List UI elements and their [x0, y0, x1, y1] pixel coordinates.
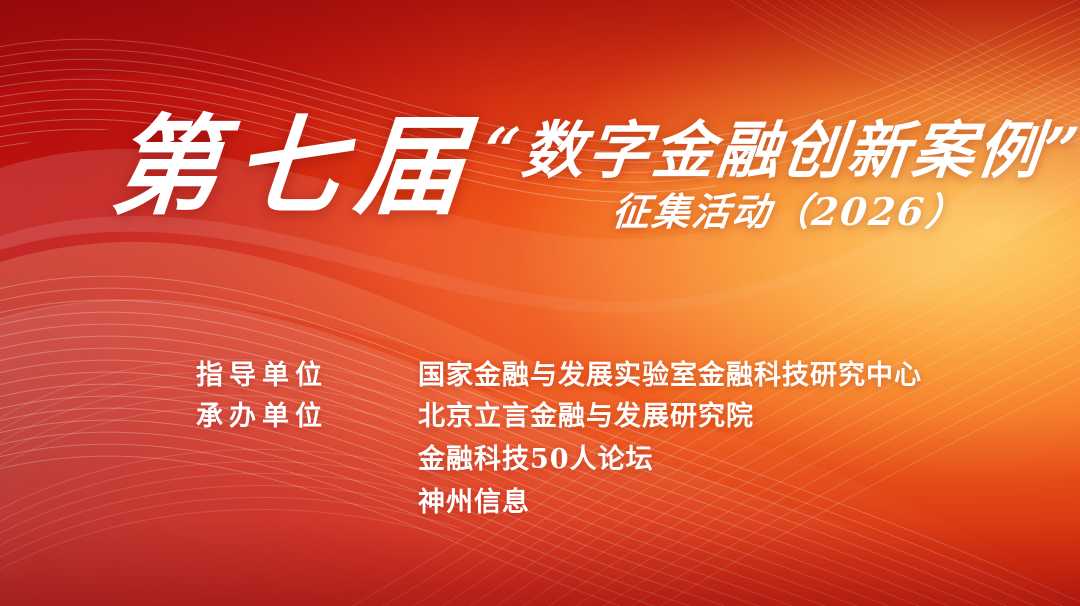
- organization-label-host: 承办单位: [196, 400, 418, 434]
- page-subtitle-activity: 征集活动（2026）: [610, 189, 969, 235]
- poster-content: 第七届 “数字金融创新案例” 征集活动（2026） 指导单位 国家金融与发展实验…: [0, 0, 1080, 606]
- organization-row-guidance: 指导单位 国家金融与发展实验室金融科技研究中心: [196, 359, 922, 393]
- organization-label-guidance: 指导单位: [196, 359, 418, 393]
- organization-value: 神州信息: [418, 486, 754, 520]
- organization-values-guidance: 国家金融与发展实验室金融科技研究中心: [418, 359, 922, 393]
- page-title-theme: “数字金融创新案例”: [480, 116, 1080, 185]
- organization-values-host: 北京立言金融与发展研究院 金融科技50人论坛 神州信息: [418, 400, 754, 520]
- organizations-block: 指导单位 国家金融与发展实验室金融科技研究中心 承办单位 北京立言金融与发展研究…: [196, 359, 922, 527]
- organization-row-host: 承办单位 北京立言金融与发展研究院 金融科技50人论坛 神州信息: [196, 400, 922, 520]
- organization-value: 国家金融与发展实验室金融科技研究中心: [418, 359, 922, 393]
- page-title-edition: 第七届: [107, 110, 483, 224]
- organization-value: 北京立言金融与发展研究院: [418, 400, 754, 434]
- poster-canvas: 第七届 “数字金融创新案例” 征集活动（2026） 指导单位 国家金融与发展实验…: [0, 0, 1080, 606]
- organization-value: 金融科技50人论坛: [418, 443, 754, 477]
